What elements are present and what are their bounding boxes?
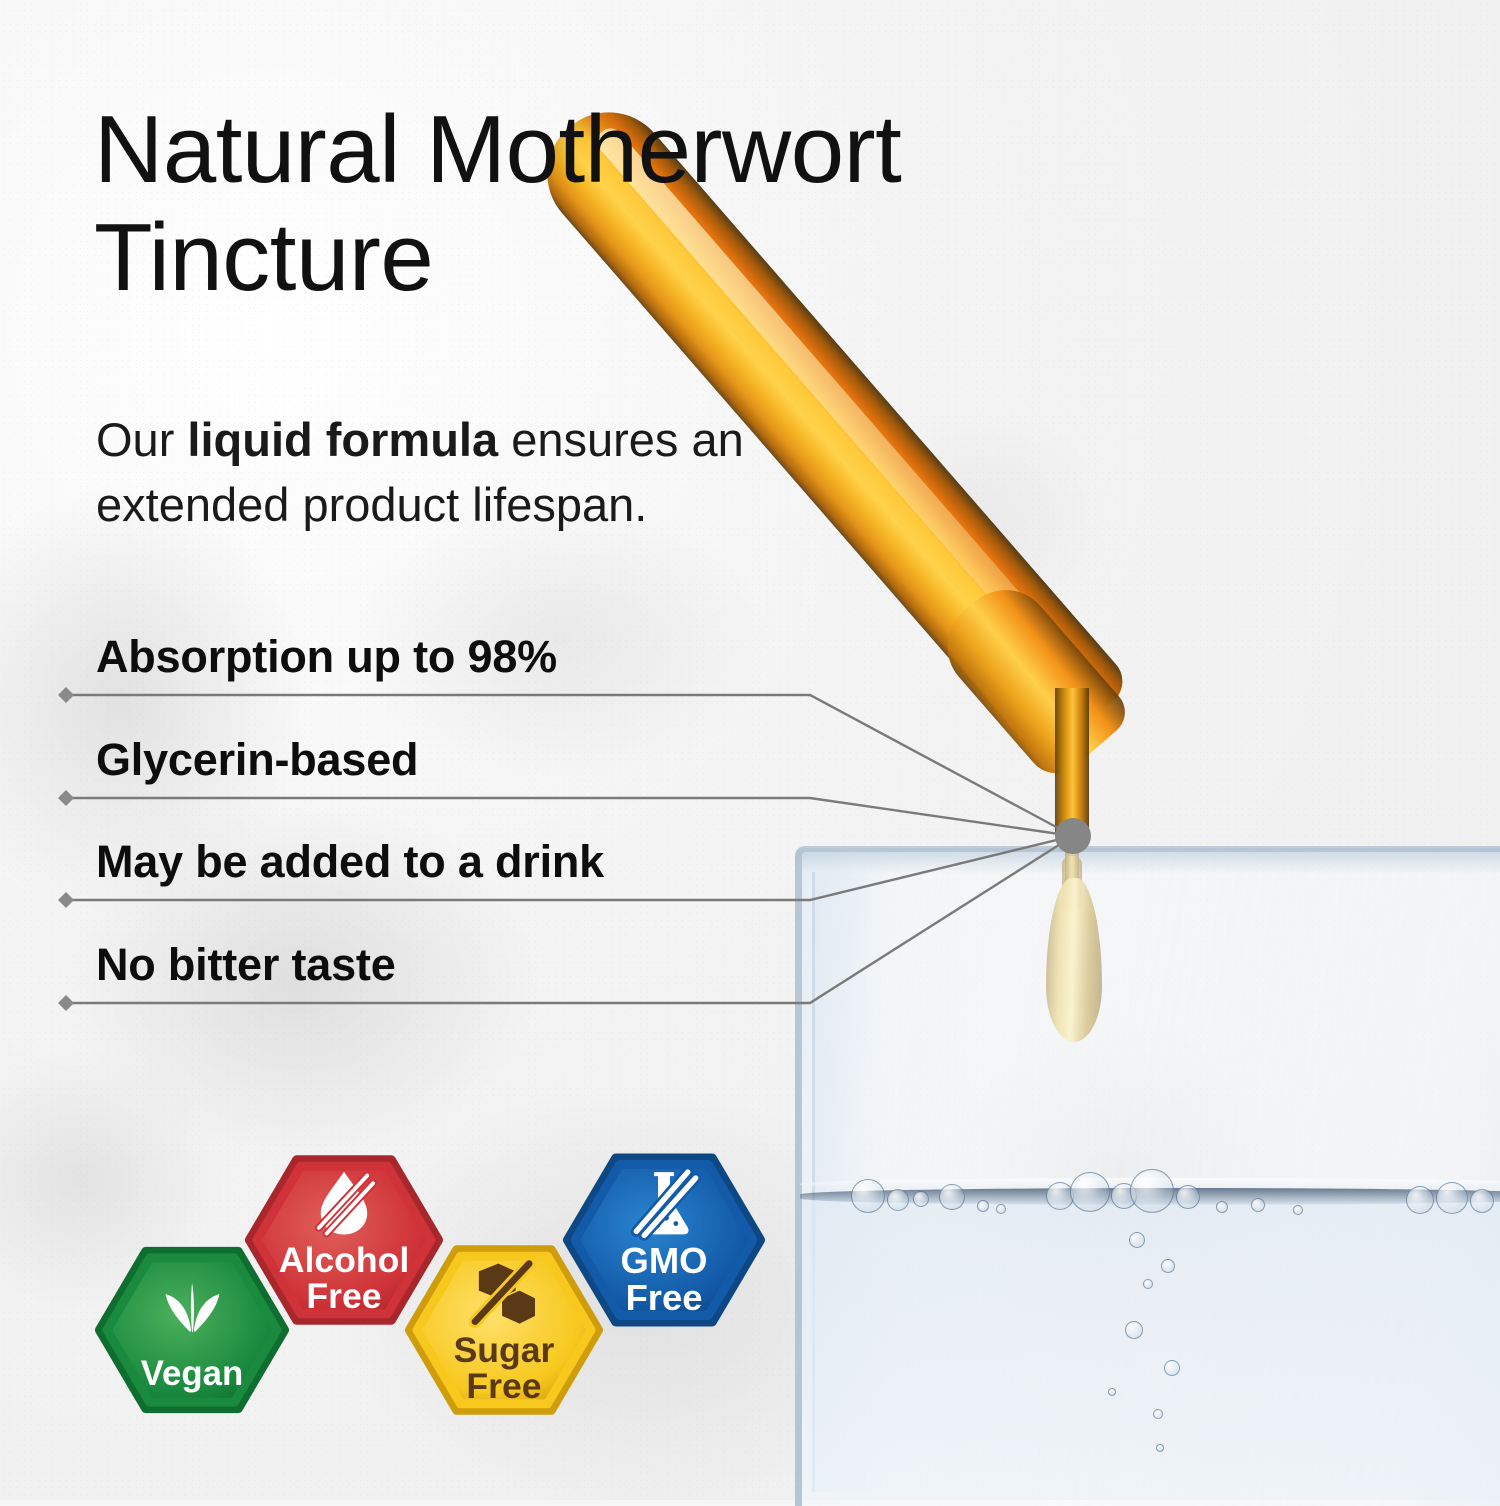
- bubble: [1161, 1259, 1175, 1273]
- glass-rim: [795, 848, 1500, 874]
- bubble: [1153, 1409, 1163, 1419]
- bubble: [1164, 1360, 1180, 1376]
- page-title: Natural Motherwort Tincture: [94, 96, 1154, 311]
- bubble: [1156, 1444, 1164, 1452]
- badge-alcohol-free: AlcoholFree: [241, 1137, 447, 1343]
- bubble: [1070, 1172, 1110, 1212]
- bubble: [1108, 1388, 1116, 1396]
- feature-label-absorption: Absorption up to 98%: [96, 631, 557, 683]
- bubble: [996, 1204, 1006, 1214]
- water-body: [802, 1200, 1500, 1500]
- certification-badges: VeganAlcoholFreeSugarFreeGMOFree: [0, 1120, 800, 1460]
- page-subtitle: Our liquid formula ensures an extended p…: [96, 408, 856, 538]
- bubble: [851, 1179, 885, 1213]
- bubble: [1406, 1186, 1434, 1214]
- subtitle-prefix: Our: [96, 413, 187, 466]
- bubble: [1143, 1279, 1153, 1289]
- subtitle-emphasis: liquid formula: [187, 413, 498, 466]
- bubble: [1176, 1185, 1200, 1209]
- bubble: [1130, 1169, 1174, 1213]
- badge-gmo-free: GMOFree: [559, 1135, 769, 1345]
- bubble: [1125, 1321, 1143, 1339]
- bubble: [1216, 1201, 1228, 1213]
- bubble: [1470, 1189, 1494, 1213]
- bubble: [913, 1191, 929, 1207]
- feature-label-drink: May be added to a drink: [96, 836, 604, 888]
- feature-label-taste: No bitter taste: [96, 939, 396, 991]
- bubble: [1129, 1232, 1145, 1248]
- bubble: [977, 1200, 989, 1212]
- feature-label-glycerin: Glycerin-based: [96, 734, 418, 786]
- infographic-canvas: Natural Motherwort Tincture Our liquid f…: [0, 0, 1500, 1500]
- bubble: [1293, 1205, 1303, 1215]
- bubble: [939, 1184, 965, 1210]
- bubble: [1251, 1198, 1265, 1212]
- bubble: [887, 1189, 909, 1211]
- bubble: [1436, 1182, 1468, 1214]
